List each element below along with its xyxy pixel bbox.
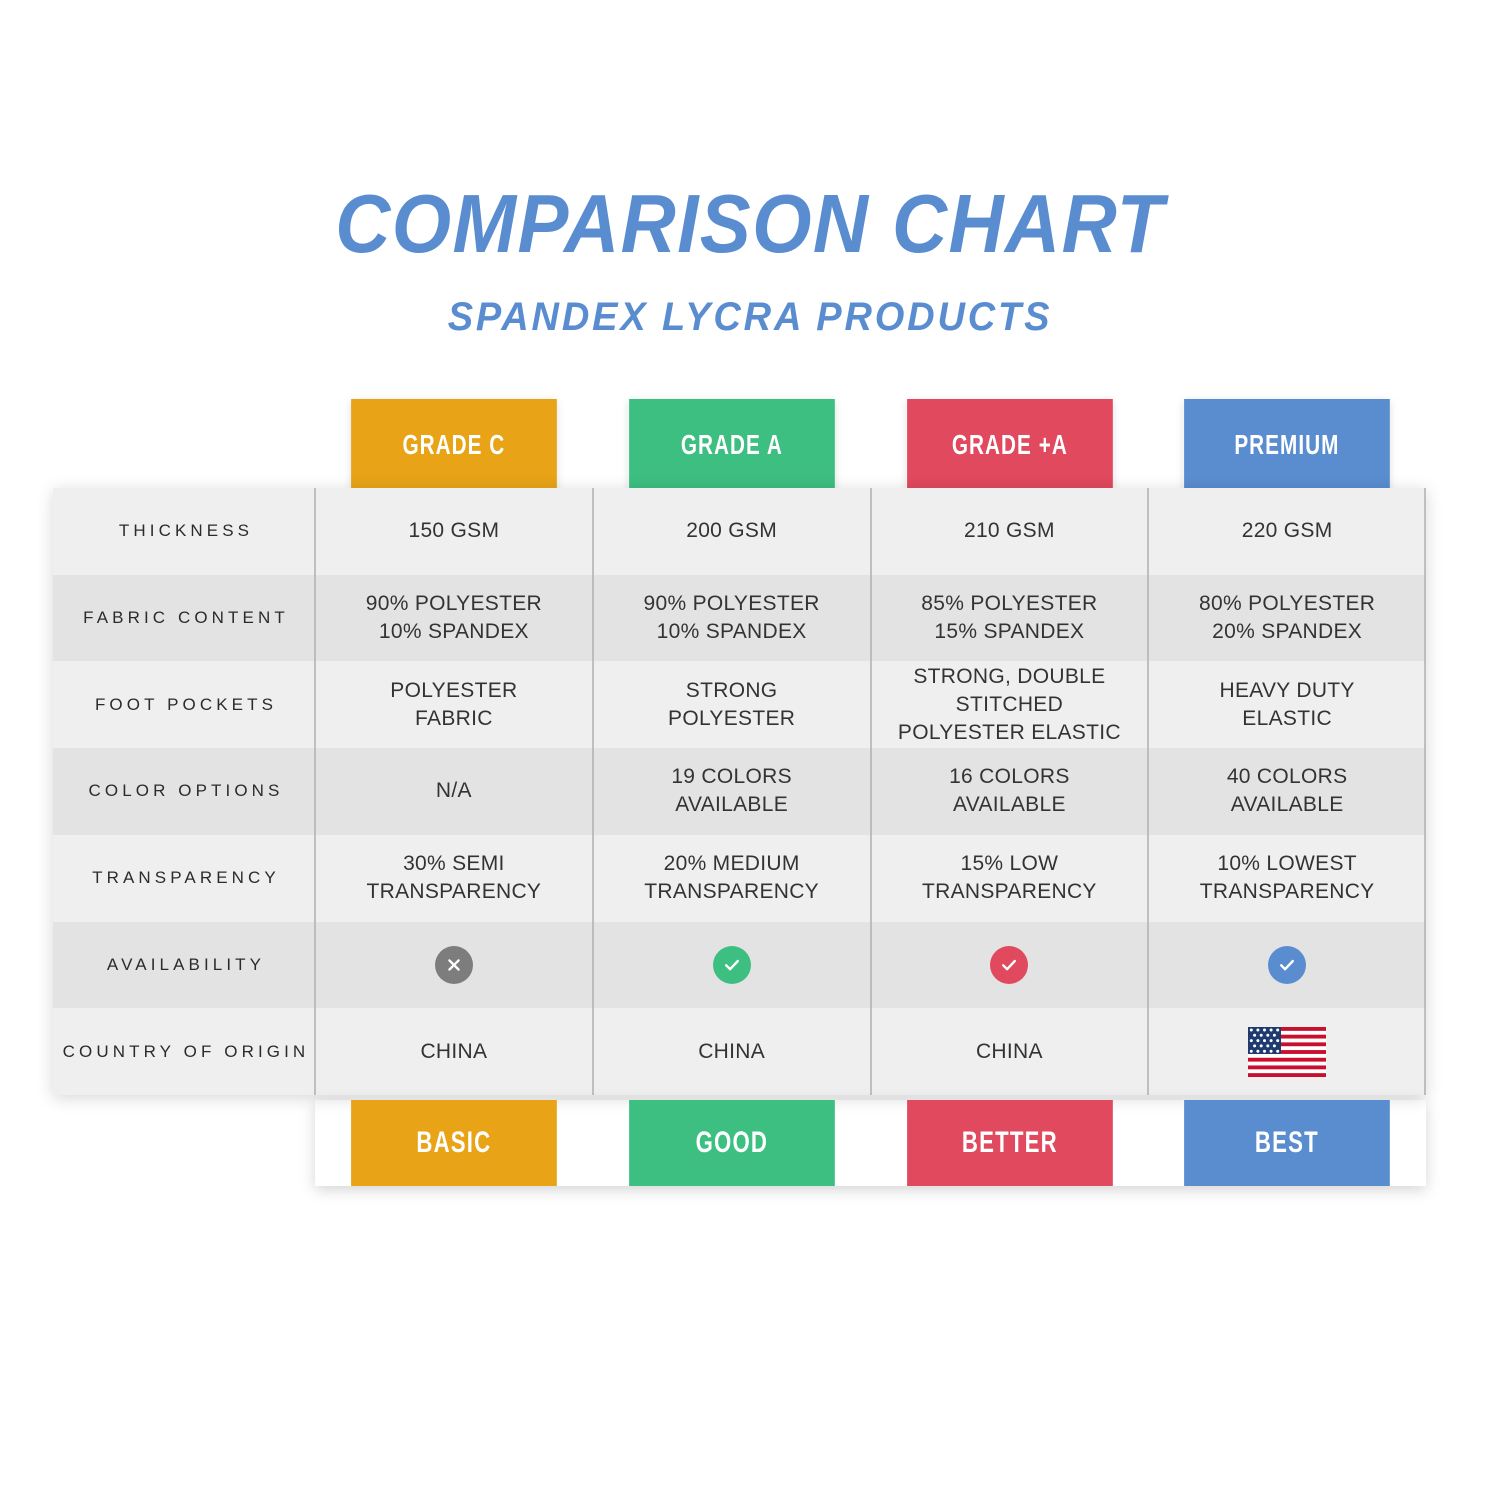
page-title: COMPARISON CHART <box>60 178 1440 270</box>
table-cell: 90% POLYESTER 10% SPANDEX <box>593 575 871 662</box>
table-cell: 80% POLYESTER 20% SPANDEX <box>1148 575 1426 662</box>
row-label-transparency: TRANSPARENCY <box>53 835 315 922</box>
table-cell: 150 GSM <box>315 488 593 575</box>
table-row: COUNTRY OF ORIGINCHINACHINACHINA <box>53 1008 1426 1095</box>
column-header-label: GRADE A <box>681 429 783 461</box>
table-cell: CHINA <box>871 1008 1149 1095</box>
table-row: FABRIC CONTENT90% POLYESTER 10% SPANDEX9… <box>53 575 1426 662</box>
table-footer-row: BASICGOODBETTERBEST <box>315 1100 1426 1186</box>
table-cell <box>593 922 871 1009</box>
table-row: AVAILABILITY <box>53 922 1426 1009</box>
table-cell <box>1148 922 1426 1009</box>
table-body: THICKNESS150 GSM200 GSM210 GSM220 GSMFAB… <box>53 488 1426 1095</box>
table-cell: CHINA <box>315 1008 593 1095</box>
table-cell: HEAVY DUTY ELASTIC <box>1148 661 1426 748</box>
column-footer-4[interactable]: BEST <box>1184 1100 1390 1186</box>
column-header-label: GRADE +A <box>951 429 1067 461</box>
table-cell: POLYESTER FABRIC <box>315 661 593 748</box>
comparison-chart-page: COMPARISON CHART SPANDEX LYCRA PRODUCTS … <box>0 0 1500 1499</box>
us-flag-icon <box>1248 1027 1326 1077</box>
row-label-thickness: THICKNESS <box>53 488 315 575</box>
page-subtitle: SPANDEX LYCRA PRODUCTS <box>38 292 1463 342</box>
row-label-foot-pockets: FOOT POCKETS <box>53 661 315 748</box>
column-footer-label: BEST <box>1255 1126 1319 1160</box>
check-circle-icon <box>1268 946 1306 984</box>
row-label-availability: AVAILABILITY <box>53 922 315 1009</box>
table-cell: 20% MEDIUM TRANSPARENCY <box>593 835 871 922</box>
column-header-4[interactable]: PREMIUM <box>1184 399 1390 490</box>
row-label-color-options: COLOR OPTIONS <box>53 748 315 835</box>
table-row: TRANSPARENCY30% SEMI TRANSPARENCY20% MED… <box>53 835 1426 922</box>
table-cell: 30% SEMI TRANSPARENCY <box>315 835 593 922</box>
column-footer-label: BASIC <box>416 1126 491 1160</box>
table-row: COLOR OPTIONSN/A19 COLORS AVAILABLE16 CO… <box>53 748 1426 835</box>
table-cell: 19 COLORS AVAILABLE <box>593 748 871 835</box>
column-footer-2[interactable]: GOOD <box>629 1100 835 1186</box>
table-cell: STRONG POLYESTER <box>593 661 871 748</box>
table-cell: 210 GSM <box>871 488 1149 575</box>
column-footer-3[interactable]: BETTER <box>907 1100 1113 1186</box>
table-row: THICKNESS150 GSM200 GSM210 GSM220 GSM <box>53 488 1426 575</box>
table-cell <box>315 922 593 1009</box>
table-cell: 15% LOW TRANSPARENCY <box>871 835 1149 922</box>
column-footer-1[interactable]: BASIC <box>351 1100 557 1186</box>
column-footer-label: GOOD <box>695 1126 768 1160</box>
table-cell: 16 COLORS AVAILABLE <box>871 748 1149 835</box>
table-cell: 85% POLYESTER 15% SPANDEX <box>871 575 1149 662</box>
column-header-2[interactable]: GRADE A <box>629 399 835 490</box>
table-row: FOOT POCKETSPOLYESTER FABRICSTRONG POLYE… <box>53 661 1426 748</box>
column-header-3[interactable]: GRADE +A <box>907 399 1113 490</box>
cross-circle-icon <box>435 946 473 984</box>
row-label-country-of-origin: COUNTRY OF ORIGIN <box>53 1008 315 1095</box>
row-label-fabric-content: FABRIC CONTENT <box>53 575 315 662</box>
column-header-1[interactable]: GRADE C <box>351 399 557 490</box>
table-cell: 200 GSM <box>593 488 871 575</box>
check-circle-icon <box>713 946 751 984</box>
table-cell: CHINA <box>593 1008 871 1095</box>
column-footer-label: BETTER <box>961 1126 1057 1160</box>
table-cell <box>1148 1008 1426 1095</box>
table-header-row: GRADE CGRADE AGRADE +APREMIUM <box>315 399 1426 490</box>
check-circle-icon <box>990 946 1028 984</box>
table-cell: STRONG, DOUBLE STITCHED POLYESTER ELASTI… <box>871 661 1149 748</box>
table-cell: N/A <box>315 748 593 835</box>
table-cell <box>871 922 1149 1009</box>
table-cell: 90% POLYESTER 10% SPANDEX <box>315 575 593 662</box>
column-header-label: PREMIUM <box>1235 429 1340 461</box>
table-cell: 10% LOWEST TRANSPARENCY <box>1148 835 1426 922</box>
table-cell: 40 COLORS AVAILABLE <box>1148 748 1426 835</box>
table-cell: 220 GSM <box>1148 488 1426 575</box>
column-header-label: GRADE C <box>402 429 505 461</box>
